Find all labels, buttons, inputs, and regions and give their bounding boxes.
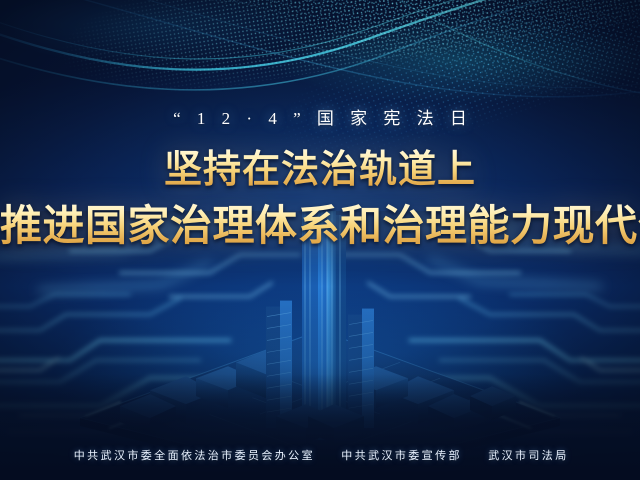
poster-subtitle: “ 1 2 · 4 ” 国 家 宪 法 日: [0, 104, 640, 129]
poster-title-line-2: 推进国家治理体系和治理能力现代化: [0, 201, 640, 251]
footer-org-1: 中共武汉市委全面依法治市委员会办公室: [74, 450, 315, 462]
poster-title: 坚持在法治轨道上 推进国家治理体系和治理能力现代化: [0, 148, 640, 250]
constitution-day-poster: “ 1 2 · 4 ” 国 家 宪 法 日 坚持在法治轨道上 推进国家治理体系和…: [0, 0, 640, 480]
poster-content: “ 1 2 · 4 ” 国 家 宪 法 日 坚持在法治轨道上 推进国家治理体系和…: [0, 0, 640, 480]
poster-footer: 中共武汉市委全面依法治市委员会办公室 中共武汉市委宣传部 武汉市司法局: [0, 447, 640, 463]
footer-org-3: 武汉市司法局: [488, 450, 568, 462]
poster-title-line-1: 坚持在法治轨道上: [0, 148, 640, 193]
footer-org-2: 中共武汉市委宣传部: [341, 450, 462, 462]
